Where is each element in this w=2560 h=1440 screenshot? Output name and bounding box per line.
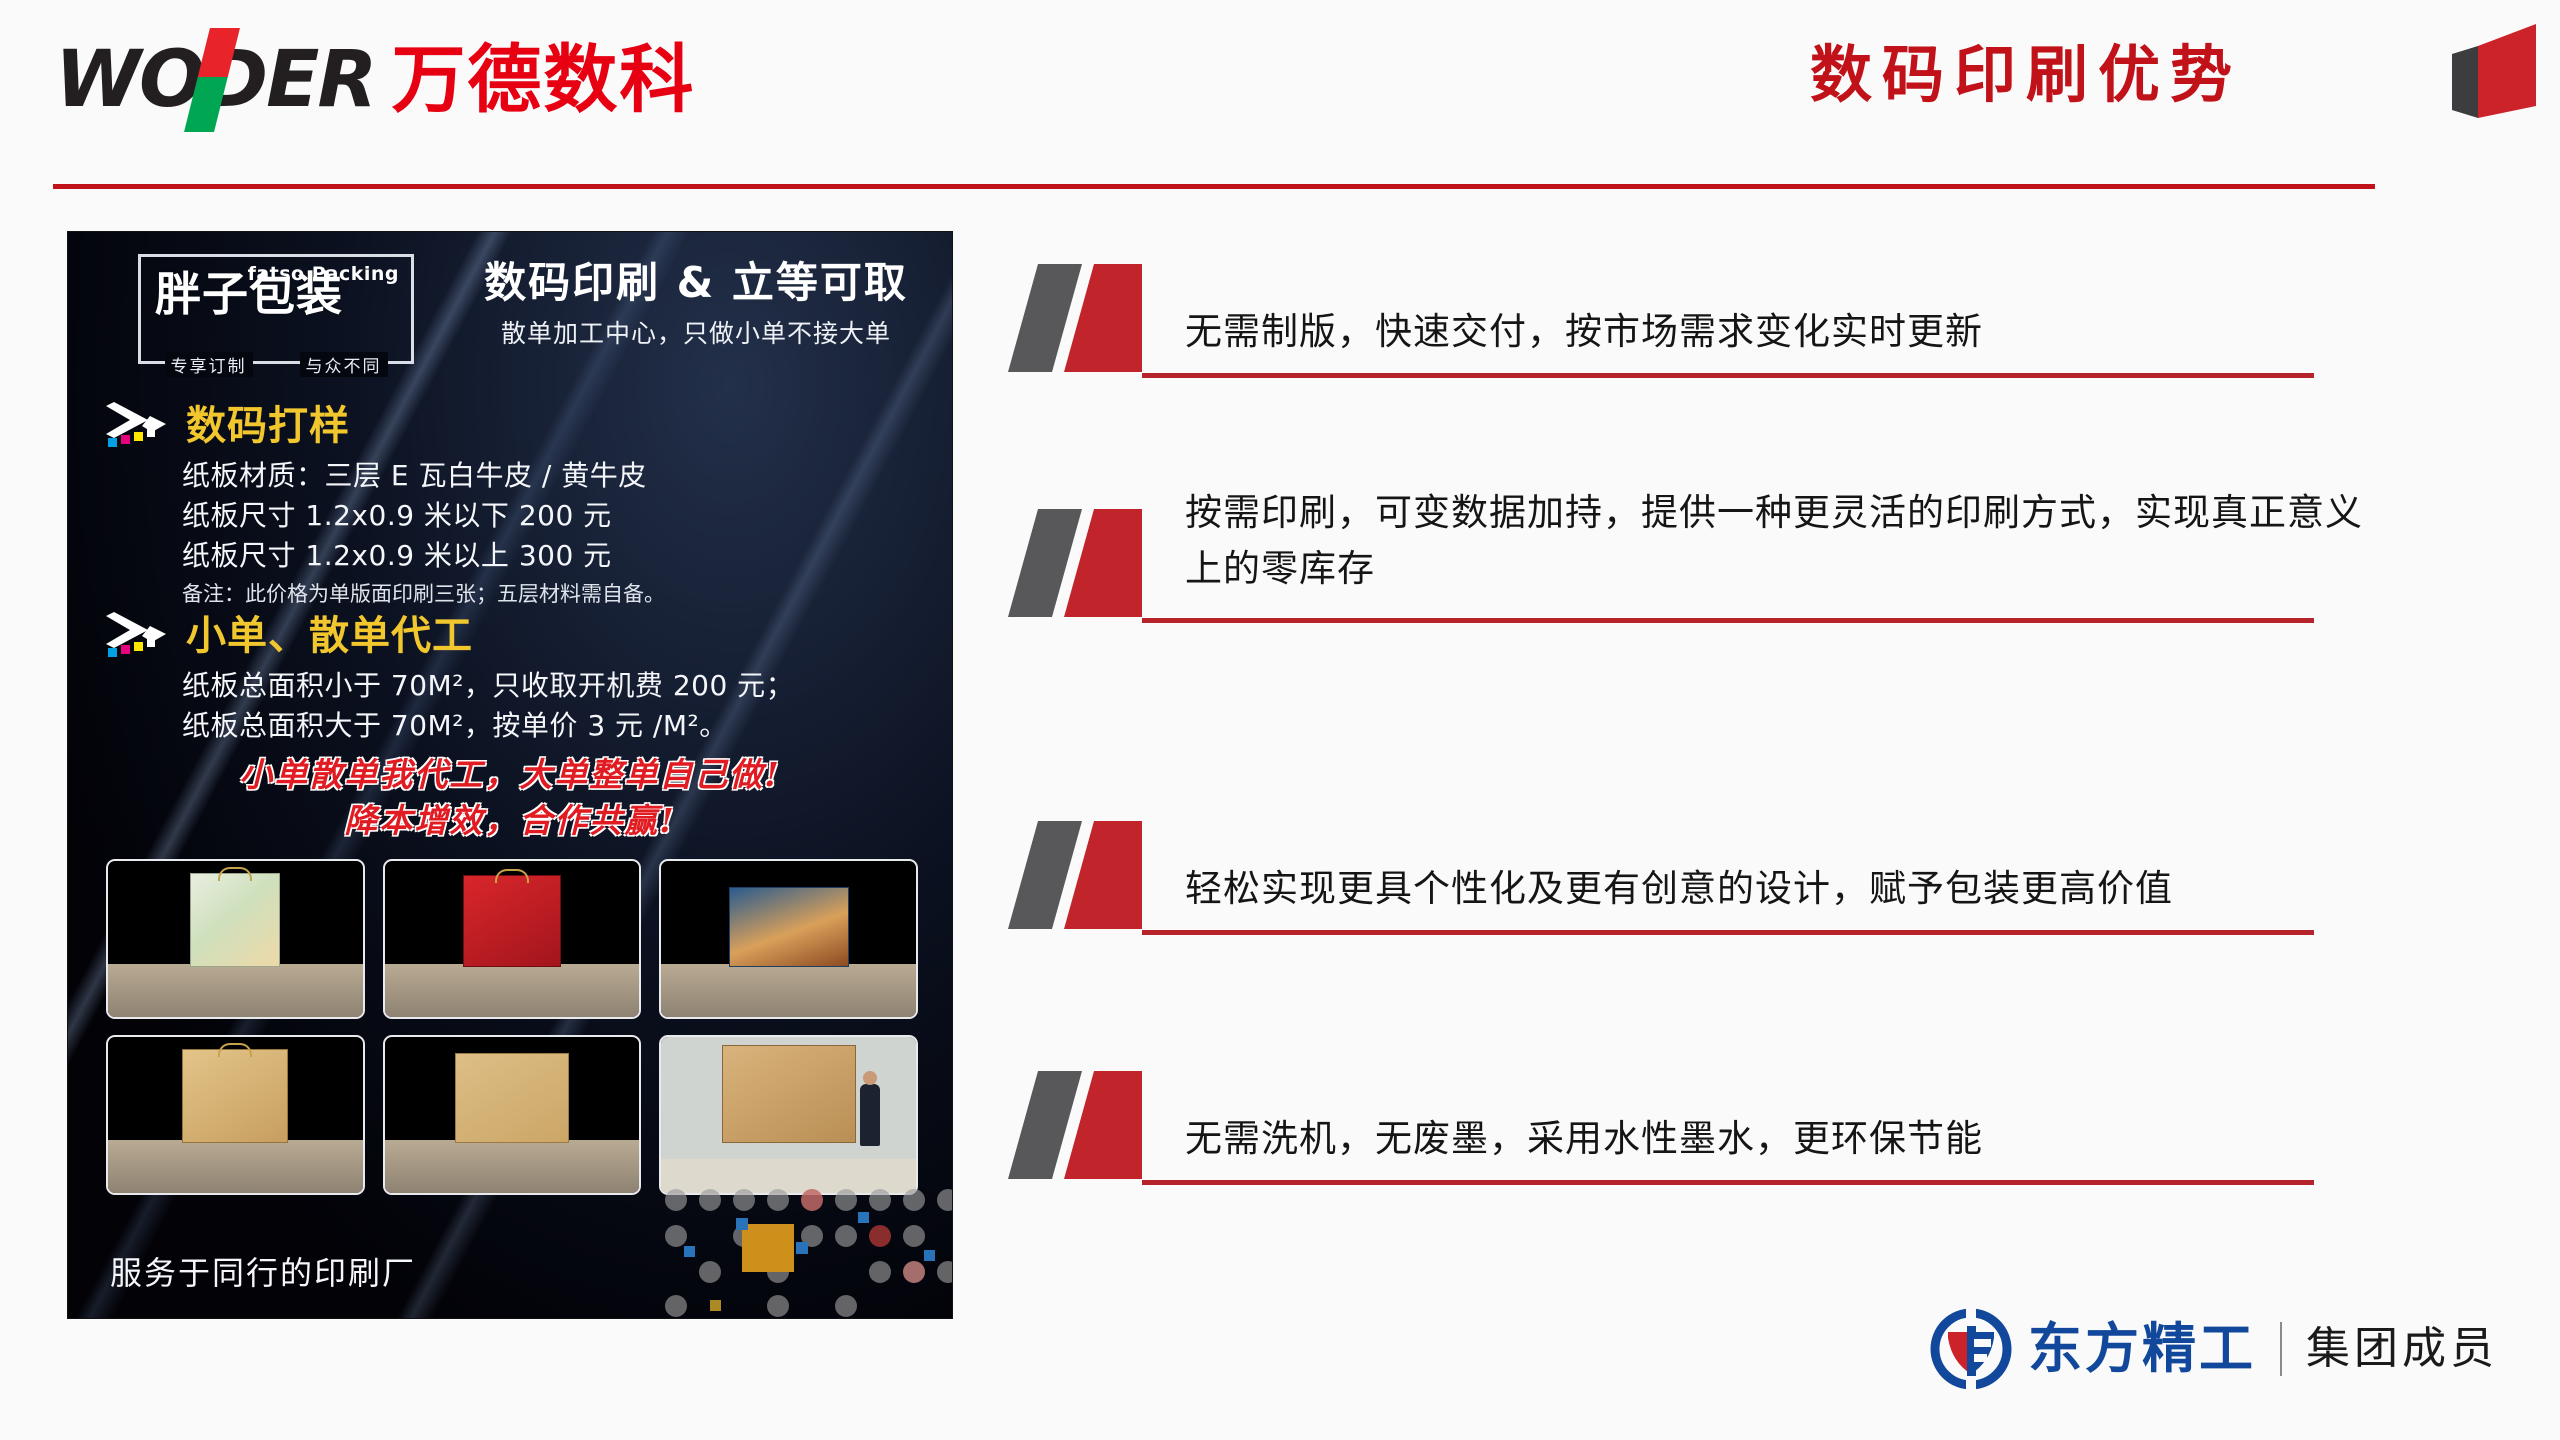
dongfang-jingong-logo-icon [1928,1306,2014,1392]
poster-product-gallery [106,859,918,1195]
gallery-item [383,859,642,1019]
advantage-underline-3 [1142,930,2314,935]
promo-poster: 胖子包装 fatso Packing 专享订制 与众不同 数码印刷 & 立等可取… [68,232,952,1318]
wonder-logo-wordmark: WODER [55,44,375,116]
double-slash-marker-icon [1008,1065,1198,1185]
poster-slogan-line1: 小单散单我代工，大单整单自己做! [68,752,952,798]
wonder-logo: WODER 万德数科 [55,36,695,116]
gallery-item [106,859,365,1019]
advantage-item-2: 按需印刷，可变数据加持，提供一种更灵活的印刷方式，实现真正意义上的零库存 [1000,503,2420,653]
poster-section1-line1: 纸板材质：三层 E 瓦白牛皮 / 黄牛皮 [182,456,916,496]
poster-subheadline: 散单加工中心，只做小单不接大单 [476,314,916,350]
group-brand-name: 东方精工 [2028,1321,2256,1377]
fatso-badge-tags: 专享订制 与众不同 [141,351,411,377]
poster-slogan: 小单散单我代工，大单整单自己做! 降本增效，合作共赢! [68,752,952,844]
gallery-item [383,1035,642,1195]
page-title: 数码印刷优势 [1810,40,2242,110]
group-member-logo: 东方精工 集团成员 [1928,1306,2498,1392]
wonder-logo-part1: WO [55,35,203,125]
poster-section1-note: 备注：此价格为单版面印刷三张；五层材料需自备。 [182,578,916,610]
slide-root: WODER 万德数科 数码印刷优势 胖子包装 fatso Packing 专享订… [0,0,2560,1440]
poster-section-oem: 小单、散单代工 纸板总面积小于 70M²，只收取开机费 200 元； 纸板总面积… [104,610,916,746]
slide-header: WODER 万德数科 数码印刷优势 [0,0,2560,190]
poster-section1-lines: 纸板材质：三层 E 瓦白牛皮 / 黄牛皮 纸板尺寸 1.2x0.9 米以下 20… [182,456,916,610]
advantage-underline-4 [1142,1180,2314,1185]
poster-headline: 数码印刷 & 立等可取 [476,258,916,308]
poster-slogan-line2: 降本增效，合作共赢! [68,798,952,844]
advantage-item-1: 无需制版，快速交付，按市场需求变化实时更新 [1000,258,2420,408]
poster-section2-line2: 纸板总面积大于 70M²，按单价 3 元 /M²。 [182,706,916,746]
poster-footer-caption: 服务于同行的印刷厂 [110,1248,416,1294]
advantage-text-3: 轻松实现更具个性化及更有创意的设计，赋予包装更高价值 [1185,815,2380,917]
advantage-text-1: 无需制版，快速交付，按市场需求变化实时更新 [1185,258,2380,360]
cmyk-chevron-icon [104,610,178,662]
advantage-underline-2 [1142,618,2314,623]
fatso-badge-tag-right: 与众不同 [300,352,388,377]
fatso-badge-english: fatso Packing [248,263,399,285]
poster-section1-title: 数码打样 [186,404,350,448]
advantage-item-3: 轻松实现更具个性化及更有创意的设计，赋予包装更高价值 [1000,815,2420,965]
corner-decoration-icon [2440,6,2548,124]
gallery-item [106,1035,365,1195]
poster-section2-title: 小单、散单代工 [186,614,473,658]
double-slash-marker-icon [1008,815,1198,935]
poster-section-proofing: 数码打样 纸板材质：三层 E 瓦白牛皮 / 黄牛皮 纸板尺寸 1.2x0.9 米… [104,400,916,610]
dot-pattern-decoration-icon [662,1184,952,1318]
poster-section2-lines: 纸板总面积小于 70M²，只收取开机费 200 元； 纸板总面积大于 70M²，… [182,666,916,746]
fatso-badge-tag-left: 专享订制 [165,352,253,377]
cmyk-chevron-icon [104,400,178,452]
poster-section1-line2: 纸板尺寸 1.2x0.9 米以下 200 元 [182,496,916,536]
advantage-text-4: 无需洗机，无废墨，采用水性墨水，更环保节能 [1185,1065,2380,1167]
advantage-text-2: 按需印刷，可变数据加持，提供一种更灵活的印刷方式，实现真正意义上的零库存 [1185,485,2380,597]
wonder-logo-chinese: 万德数科 [391,44,695,116]
advantage-underline-1 [1142,373,2314,378]
poster-section1-line3: 纸板尺寸 1.2x0.9 米以上 300 元 [182,536,916,576]
gallery-item [659,1035,918,1195]
fatso-packing-badge: 胖子包装 fatso Packing 专享订制 与众不同 [138,254,414,364]
gallery-item [659,859,918,1019]
double-slash-marker-icon [1008,503,1198,623]
advantage-item-4: 无需洗机，无废墨，采用水性墨水，更环保节能 [1000,1065,2420,1215]
poster-headline-block: 数码印刷 & 立等可取 散单加工中心，只做小单不接大单 [476,258,916,350]
double-slash-marker-icon [1008,258,1198,378]
group-member-label: 集团成员 [2306,1324,2498,1374]
header-divider [53,184,2375,189]
footer-divider [2280,1322,2282,1376]
poster-section2-line1: 纸板总面积小于 70M²，只收取开机费 200 元； [182,666,916,706]
